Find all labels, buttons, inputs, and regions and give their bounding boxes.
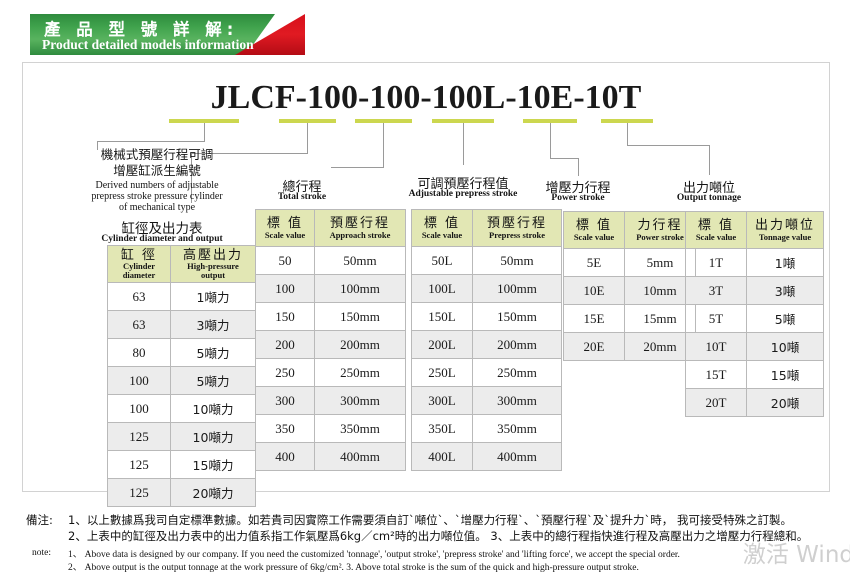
output-tonnage-title-en: Output tonnage <box>667 193 751 203</box>
table-tonnage-body: 標 值 Scale value 出力噸位 Tonnage value 1T1噸 … <box>686 212 824 417</box>
cell-value: 250mm <box>473 359 562 387</box>
table-output-tonnage: 標 值 Scale value 出力噸位 Tonnage value 1T1噸 … <box>685 211 824 417</box>
cell-value: 5噸力 <box>171 339 256 367</box>
leader-seg5-across <box>627 145 709 146</box>
cell-value: 10E <box>564 277 625 305</box>
table-header-row: 缸 徑 Cylinder diameter 高壓出力 High-pressure… <box>108 246 256 283</box>
header-en1: Scale value <box>686 233 746 242</box>
cell-value: 1噸力 <box>171 283 256 311</box>
leader-seg1-down <box>307 123 308 153</box>
table-row: 250L250mm <box>412 359 562 387</box>
header-cell-cylinder-diameter: 缸 徑 Cylinder diameter <box>108 246 171 283</box>
leader-jlcf-across <box>97 141 205 142</box>
cell-value: 350mm <box>473 415 562 443</box>
cell-value: 5噸力 <box>171 367 256 395</box>
cell-value: 150mm <box>473 303 562 331</box>
table-row: 5E5mm <box>564 249 696 277</box>
table-row: 805噸力 <box>108 339 256 367</box>
cylinder-table-title-en: Cylinder diameter and output <box>77 234 247 244</box>
cell-value: 100mm <box>315 275 406 303</box>
cell-value: 100 <box>256 275 315 303</box>
note-en-item-2: 2、 Above output is the output tonnage at… <box>68 559 639 573</box>
table-cylinder-body: 缸 徑 Cylinder diameter 高壓出力 High-pressure… <box>108 246 256 507</box>
cell-value: 1T <box>686 249 747 277</box>
table-row: 633噸力 <box>108 311 256 339</box>
table-row: 12515噸力 <box>108 451 256 479</box>
cell-value: 50 <box>256 247 315 275</box>
cell-value: 150 <box>256 303 315 331</box>
header-cell-prepress-stroke: 預壓行程 Prepress stroke <box>473 210 562 247</box>
cell-value: 10T <box>686 333 747 361</box>
note-label-en: note: <box>32 548 51 558</box>
page-root: 產 品 型 號 詳 解: Product detailed models inf… <box>0 0 850 573</box>
table-row: 3T3噸 <box>686 277 824 305</box>
content-frame: JLCF-100-100-100L-10E-10T 機械式預壓行程可調 <box>22 62 830 492</box>
cell-value: 125 <box>108 479 171 507</box>
leader-seg4-down <box>550 123 551 158</box>
table-row: 20E20mm <box>564 333 696 361</box>
table-row: 5T5噸 <box>686 305 824 333</box>
cell-value: 100 <box>108 367 171 395</box>
table-power-stroke: 標 值 Scale value 力行程 Power stroke 5E5mm 1… <box>563 211 696 361</box>
table-total-stroke-body: 標 值 Scale value 預壓行程 Approach stroke 505… <box>256 210 406 471</box>
cell-value: 125 <box>108 451 171 479</box>
table-row: 350350mm <box>256 415 406 443</box>
table-row: 1005噸力 <box>108 367 256 395</box>
cell-value: 15T <box>686 361 747 389</box>
header-en1: Prepress stroke <box>473 231 561 240</box>
header-en1: Scale value <box>412 231 472 240</box>
cell-value: 350L <box>412 415 473 443</box>
cell-value: 20E <box>564 333 625 361</box>
table-row: 400L400mm <box>412 443 562 471</box>
header-cn: 預壓行程 <box>487 216 547 231</box>
cell-value: 20噸力 <box>171 479 256 507</box>
cell-value: 50L <box>412 247 473 275</box>
table-row: 300L300mm <box>412 387 562 415</box>
leader-seg2-across <box>331 167 384 168</box>
cell-value: 300 <box>256 387 315 415</box>
cell-value: 300mm <box>473 387 562 415</box>
leader-seg3-down <box>463 123 464 165</box>
table-row: 10010噸力 <box>108 395 256 423</box>
header-cell-approach-stroke: 預壓行程 Approach stroke <box>315 210 406 247</box>
cell-value: 200 <box>256 331 315 359</box>
cell-value: 100L <box>412 275 473 303</box>
cell-value: 300mm <box>315 387 406 415</box>
header-cell-scale-value: 標 值 Scale value <box>564 212 625 249</box>
derived-title-cn-line2: 增壓缸派生編號 <box>63 163 251 178</box>
cell-value: 3T <box>686 277 747 305</box>
table-row: 1T1噸 <box>686 249 824 277</box>
cell-value: 63 <box>108 283 171 311</box>
header-cn: 出力噸位 <box>755 218 815 233</box>
header-en2: diameter <box>108 271 170 281</box>
header-en1: Approach stroke <box>315 231 405 240</box>
header-cell-high-pressure-output: 高壓出力 High-pressure output <box>171 246 256 283</box>
cell-value: 150L <box>412 303 473 331</box>
table-row: 50L50mm <box>412 247 562 275</box>
cell-value: 150mm <box>315 303 406 331</box>
cell-value: 200mm <box>315 331 406 359</box>
header-cn: 力行程 <box>637 218 682 233</box>
cell-value: 250 <box>256 359 315 387</box>
header-cell-tonnage-value: 出力噸位 Tonnage value <box>747 212 824 249</box>
derived-title-en-line3: of mechanical type <box>49 202 265 214</box>
windows-activation-watermark: 激活 Wind <box>743 535 850 569</box>
cell-value: 15噸力 <box>171 451 256 479</box>
table-row: 200200mm <box>256 331 406 359</box>
header-cn: 預壓行程 <box>330 216 390 231</box>
table-power-body: 標 值 Scale value 力行程 Power stroke 5E5mm 1… <box>564 212 696 361</box>
cell-value: 10噸 <box>747 333 824 361</box>
prepress-title-en: Adjustable prepress stroke <box>389 189 537 199</box>
leader-seg2-down <box>383 123 384 167</box>
cell-value: 15E <box>564 305 625 333</box>
header-banner: 產 品 型 號 詳 解: Product detailed models inf… <box>30 14 305 55</box>
header-cn: 標 值 <box>267 216 303 231</box>
table-header-row: 標 值 Scale value 預壓行程 Approach stroke <box>256 210 406 247</box>
cell-value: 50mm <box>473 247 562 275</box>
cell-value: 300L <box>412 387 473 415</box>
cell-value: 20T <box>686 389 747 417</box>
leader-seg5-tip <box>709 145 710 175</box>
cell-value: 350 <box>256 415 315 443</box>
cell-value: 5噸 <box>747 305 824 333</box>
leader-seg4-across <box>550 158 578 159</box>
table-row: 15E15mm <box>564 305 696 333</box>
table-total-stroke: 標 值 Scale value 預壓行程 Approach stroke 505… <box>255 209 406 471</box>
note-label-cn: 備注: <box>26 512 53 528</box>
total-stroke-title-en: Total stroke <box>263 192 341 202</box>
cell-value: 400mm <box>315 443 406 471</box>
note-cn-item-1: 1、以上數據爲我司自定標準數據。如若貴司因實際工作需要須自訂`噸位`、`增壓力行… <box>68 512 792 528</box>
cell-value: 200L <box>412 331 473 359</box>
model-number: JLCF-100-100-100L-10E-10T <box>1 79 850 117</box>
cell-value: 350mm <box>315 415 406 443</box>
table-header-row: 標 值 Scale value 預壓行程 Prepress stroke <box>412 210 562 247</box>
cell-value: 3噸力 <box>171 311 256 339</box>
power-stroke-title-en: Power stroke <box>537 193 619 203</box>
table-row: 631噸力 <box>108 283 256 311</box>
cell-value: 200mm <box>473 331 562 359</box>
note-en-item-1: 1、 Above data is designed by our company… <box>68 546 680 560</box>
derived-title-en-line2: prepress stroke pressure cylinder <box>49 191 265 203</box>
table-row: 300300mm <box>256 387 406 415</box>
table-row: 10T10噸 <box>686 333 824 361</box>
header-en2: output <box>171 271 255 281</box>
table-row: 12510噸力 <box>108 423 256 451</box>
table-row: 150150mm <box>256 303 406 331</box>
table-header-row: 標 值 Scale value 力行程 Power stroke <box>564 212 696 249</box>
table-row: 350L350mm <box>412 415 562 443</box>
table-row: 10E10mm <box>564 277 696 305</box>
table-row: 15T15噸 <box>686 361 824 389</box>
cell-value: 1噸 <box>747 249 824 277</box>
table-cylinder-output: 缸 徑 Cylinder diameter 高壓出力 High-pressure… <box>107 245 256 507</box>
header-cn: 標 值 <box>576 218 612 233</box>
leader-jlcf-down <box>204 123 205 141</box>
cell-value: 20噸 <box>747 389 824 417</box>
table-row: 100100mm <box>256 275 406 303</box>
cell-value: 5E <box>564 249 625 277</box>
table-prepress-body: 標 值 Scale value 預壓行程 Prepress stroke 50L… <box>412 210 562 471</box>
header-en1: Tonnage value <box>747 233 823 242</box>
header-cn: 標 值 <box>424 216 460 231</box>
header-cn: 標 值 <box>698 218 734 233</box>
cell-value: 250mm <box>315 359 406 387</box>
banner-title-en: Product detailed models information <box>42 37 272 53</box>
derived-title-en-line1: Derived numbers of adjustable <box>49 180 265 192</box>
cell-value: 80 <box>108 339 171 367</box>
cell-value: 50mm <box>315 247 406 275</box>
note-cn-item-2: 2、上表中的缸徑及出力表中的出力值系指工作氣壓爲6kg／cm²時的出力噸位值。 … <box>68 528 808 544</box>
table-header-row: 標 值 Scale value 出力噸位 Tonnage value <box>686 212 824 249</box>
cell-value: 100 <box>108 395 171 423</box>
table-row: 150L150mm <box>412 303 562 331</box>
cell-value: 3噸 <box>747 277 824 305</box>
cell-value: 63 <box>108 311 171 339</box>
header-cell-scale-value: 標 值 Scale value <box>256 210 315 247</box>
cell-value: 400 <box>256 443 315 471</box>
cell-value: 400L <box>412 443 473 471</box>
cell-value: 100mm <box>473 275 562 303</box>
header-cell-scale-value: 標 值 Scale value <box>686 212 747 249</box>
header-en1: Scale value <box>256 231 314 240</box>
derived-title-cn-line1: 機械式預壓行程可調 <box>63 147 251 162</box>
cell-value: 400mm <box>473 443 562 471</box>
table-row: 12520噸力 <box>108 479 256 507</box>
header-en1: Scale value <box>564 233 624 242</box>
leader-seg5-down <box>627 123 628 145</box>
cell-value: 15噸 <box>747 361 824 389</box>
cell-value: 10噸力 <box>171 395 256 423</box>
cell-value: 250L <box>412 359 473 387</box>
cell-value: 125 <box>108 423 171 451</box>
cell-value: 5T <box>686 305 747 333</box>
table-row: 400400mm <box>256 443 406 471</box>
header-cell-scale-value: 標 值 Scale value <box>412 210 473 247</box>
table-row: 200L200mm <box>412 331 562 359</box>
table-row: 5050mm <box>256 247 406 275</box>
table-row: 250250mm <box>256 359 406 387</box>
cell-value: 10噸力 <box>171 423 256 451</box>
table-row: 100L100mm <box>412 275 562 303</box>
leader-seg4-tip <box>578 158 579 176</box>
table-prepress-stroke: 標 值 Scale value 預壓行程 Prepress stroke 50L… <box>411 209 562 471</box>
table-row: 20T20噸 <box>686 389 824 417</box>
